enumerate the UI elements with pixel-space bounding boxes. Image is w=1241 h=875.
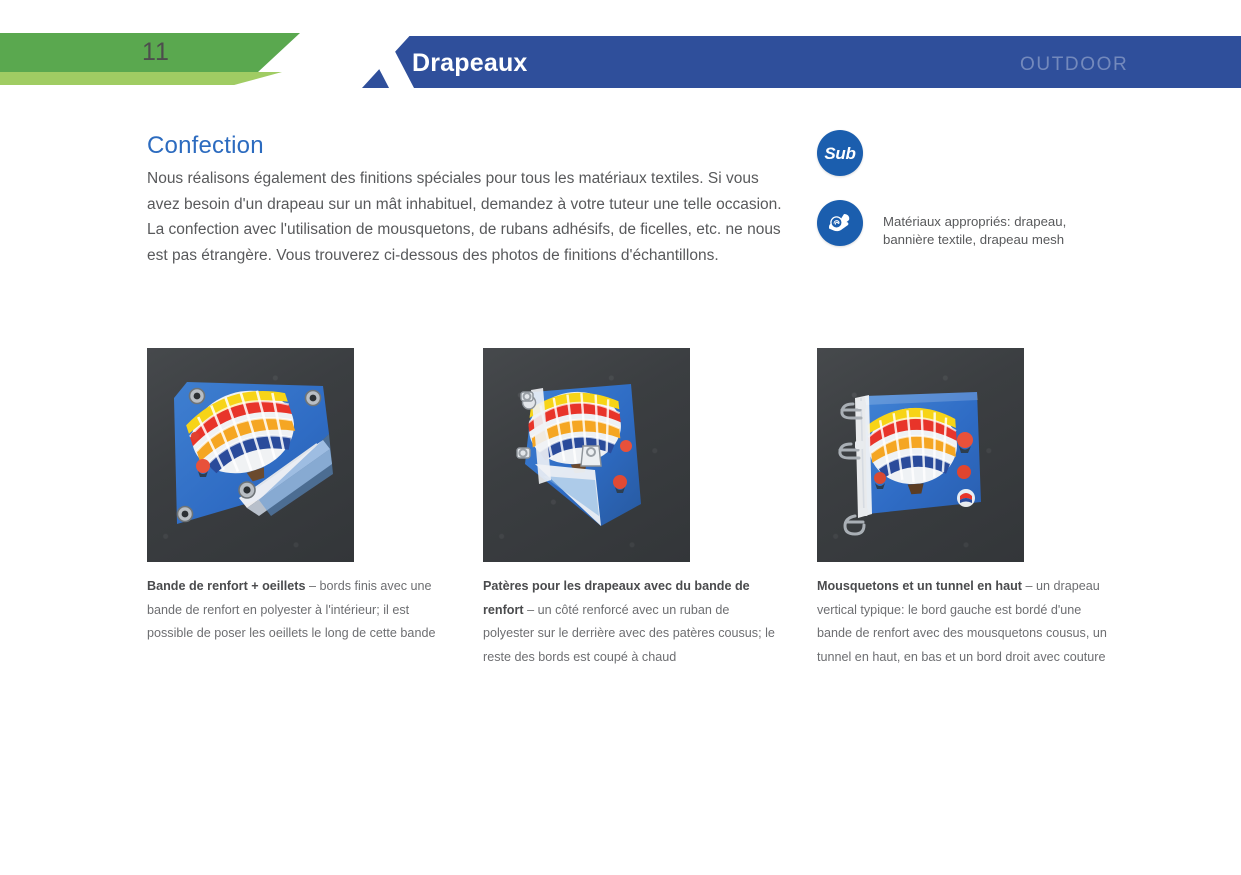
materials-text: Matériaux appropriés: drapeau, bannière … xyxy=(883,213,1113,249)
sub-circle-icon: Sub xyxy=(817,130,863,176)
caption-bold-lead: Bande de renfort + oeillets xyxy=(147,579,306,593)
sub-badge-row: Sub xyxy=(817,130,1147,176)
photo-caption: Mousquetons et un tunnel en haut – un dr… xyxy=(817,575,1117,669)
photo-flag-reinforcement-eyelets xyxy=(147,348,354,562)
photo-flag-carabiners-tunnel xyxy=(817,348,1024,562)
page-title: Drapeaux xyxy=(412,49,528,78)
page-number: 11 xyxy=(142,38,170,67)
caption-rest: – un côté renforcé avec un ruban de poly… xyxy=(483,603,775,664)
sub-badge-label: Sub xyxy=(824,145,855,162)
header-category-label: OUTDOOR xyxy=(1020,54,1128,76)
fabric-in-hand-icon xyxy=(817,200,863,246)
section-heading: Confection xyxy=(147,132,797,160)
material-info-row: Matériaux appropriés: drapeau, bannière … xyxy=(817,200,1147,249)
icon-column: Sub Matériaux appropriés: drapeau, banni… xyxy=(817,130,1147,249)
photo-block-hooks-reinforcement: Patères pour les drapeaux avec du bande … xyxy=(483,348,690,669)
intro-section: Confection Nous réalisons également des … xyxy=(147,132,797,268)
photo-flag-hooks-reinforcement xyxy=(483,348,690,562)
page-header: 11 Drapeaux OUTDOOR xyxy=(0,0,1241,100)
photo-caption: Patères pour les drapeaux avec du bande … xyxy=(483,575,783,669)
caption-bold-lead: Mousquetons et un tunnel en haut xyxy=(817,579,1022,593)
photo-block-reinforcement-eyelets: Bande de renfort + oeillets – bords fini… xyxy=(147,348,354,646)
green-band-light xyxy=(0,72,282,85)
intro-paragraph: Nous réalisons également des finitions s… xyxy=(147,166,787,268)
photo-block-carabiners-tunnel: Mousquetons et un tunnel en haut – un dr… xyxy=(817,348,1024,669)
photo-caption: Bande de renfort + oeillets – bords fini… xyxy=(147,575,447,646)
